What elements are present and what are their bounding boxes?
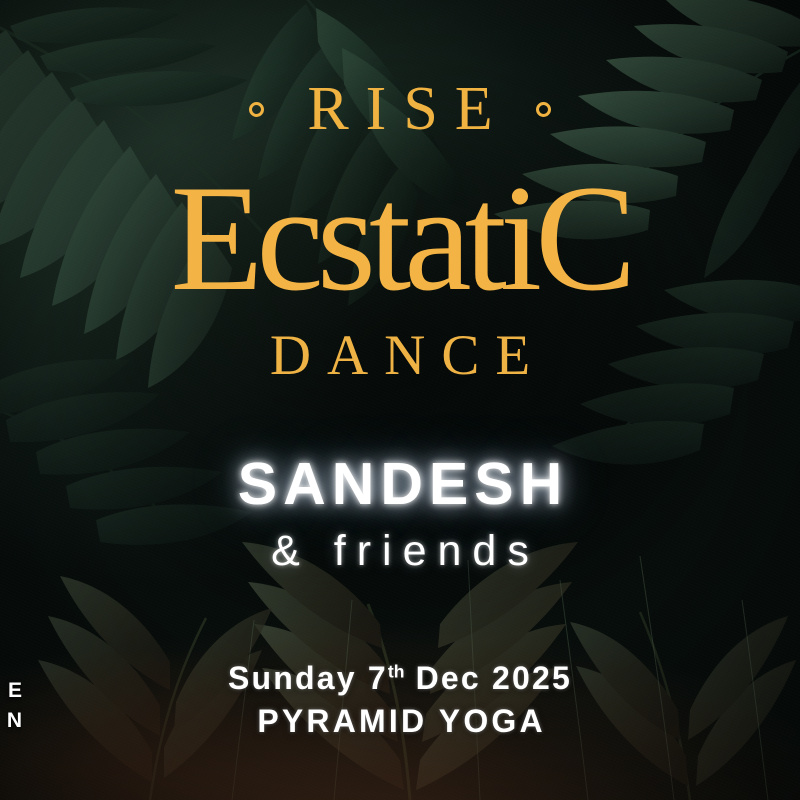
edge-clipped-text: E N [0,676,22,736]
kicker-text: RISE [290,78,509,140]
title-sub: DANCE [0,327,800,384]
kicker-row: RISE [0,78,800,140]
ring-ornament-left-icon [249,102,264,117]
poster-content: RISE EcstatiC DANCE SANDESH & friends Su… [0,0,800,800]
edge-clipped-line-2: N [0,706,22,736]
artist-name: SANDESH [0,455,800,514]
event-date-suffix: Dec 2025 [405,660,572,696]
event-poster: RISE EcstatiC DANCE SANDESH & friends Su… [0,0,800,800]
artist-support: & friends [0,530,800,573]
event-date-prefix: Sunday 7 [228,660,388,696]
event-date: Sunday 7th Dec 2025 [0,662,800,694]
ring-ornament-right-icon [536,102,551,117]
event-date-ordinal: th [388,661,405,681]
title-main: EcstatiC [0,162,800,314]
event-venue: PYRAMID YOGA [0,705,800,737]
edge-clipped-line-1: E [0,676,22,706]
